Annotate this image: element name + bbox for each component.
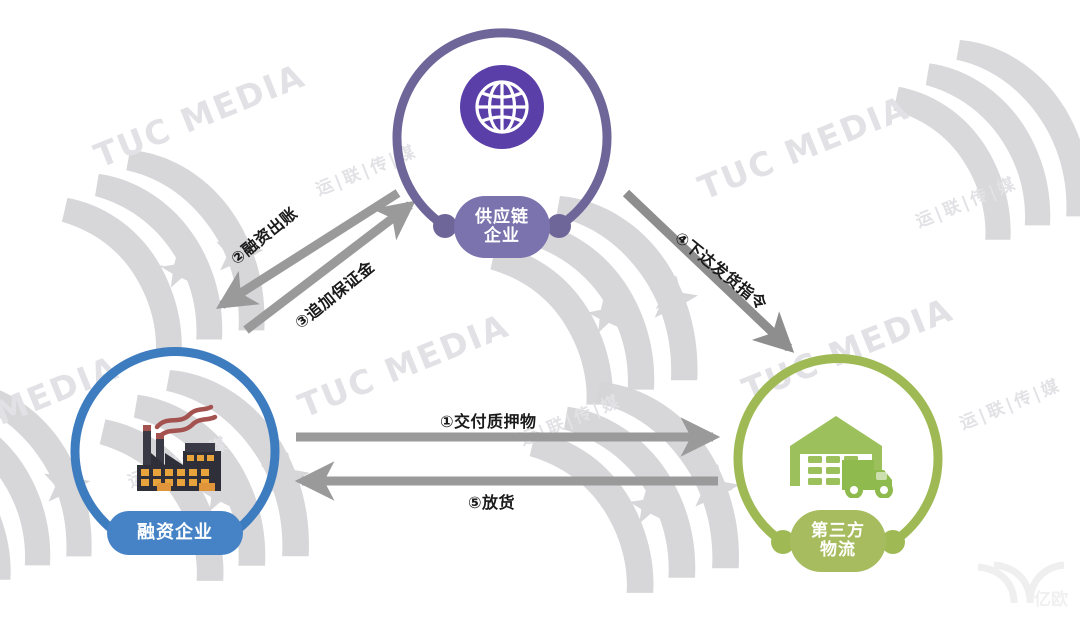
nodes-layer: 供应链 企业: [0, 0, 1080, 619]
node-label-line: 融资企业: [137, 523, 213, 543]
node-label-third-party-logistics: 第三方 物流: [790, 510, 886, 572]
node-label-line: 第三方: [811, 522, 865, 541]
node-label-financing-enterprise: 融资企业: [107, 511, 243, 555]
node-financing-enterprise[interactable]: 融资企业: [65, 343, 295, 573]
globe-icon: [460, 65, 544, 149]
yiou-logo: 亿欧: [964, 557, 1072, 613]
node-label-supply-chain-enterprise: 供应链 企业: [454, 196, 550, 258]
node-label-line: 物流: [820, 541, 856, 560]
yiou-logo-text: 亿欧: [1034, 589, 1068, 610]
diagram-canvas: TUC MEDIA 运|联|传|媒 TUC MEDIA 运|联|传|媒 TUC …: [0, 0, 1080, 619]
node-third-party-logistics[interactable]: 第三方 物流: [728, 350, 958, 580]
node-label-line: 供应链: [475, 208, 529, 227]
warehouse-truck-icon: [780, 402, 902, 498]
node-supply-chain-enterprise[interactable]: 供应链 企业: [382, 20, 622, 260]
node-label-line: 企业: [484, 227, 520, 246]
factory-icon: [123, 395, 235, 495]
